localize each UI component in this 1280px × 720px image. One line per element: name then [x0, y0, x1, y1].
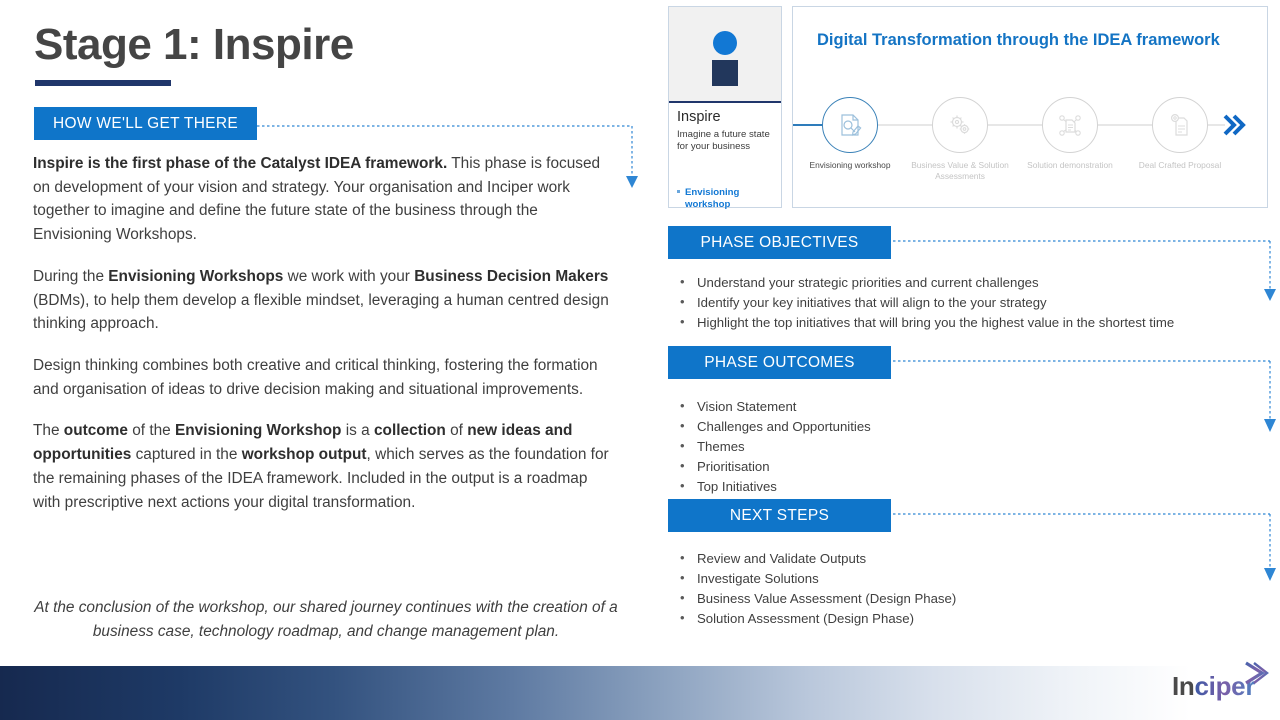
body-copy: Inspire is the first phase of the Cataly…: [33, 152, 619, 532]
next-steps-label: NEXT STEPS: [730, 507, 829, 525]
phase-outcomes-list: Vision Statement Challenges and Opportun…: [670, 397, 1270, 497]
phase-objectives-tab[interactable]: PHASE OBJECTIVES: [668, 226, 891, 259]
network-document-icon: [1056, 111, 1084, 139]
person-body-icon: [712, 60, 738, 86]
step-circle-1: [822, 97, 878, 153]
page-title: Stage 1: Inspire: [34, 22, 354, 68]
phase-objectives-list: Understand your strategic priorities and…: [670, 273, 1270, 333]
idea-step-business-value[interactable]: Business Value & Solution Assessments: [905, 97, 1015, 182]
next-steps-tab[interactable]: NEXT STEPS: [668, 499, 891, 532]
idea-step-label-1: Envisioning workshop: [795, 160, 905, 171]
idea-step-deal-crafted-proposal[interactable]: Deal Crafted Proposal: [1125, 97, 1235, 171]
idea-step-label-3: Solution demonstration: [1015, 160, 1125, 171]
document-pen-icon: [836, 111, 864, 139]
how-well-get-there-label: HOW WE'LL GET THERE: [53, 115, 238, 133]
footer-gradient-bar: [0, 666, 1280, 720]
list-item: Identify your key initiatives that will …: [670, 293, 1270, 313]
inspire-card-subtitle: Imagine a future state for your business: [677, 129, 777, 153]
person-head-icon: [713, 31, 737, 55]
list-item: Understand your strategic priorities and…: [670, 273, 1270, 293]
phase-objectives-label: PHASE OBJECTIVES: [700, 234, 858, 252]
list-item: Top Initiatives: [670, 477, 1270, 497]
idea-framework-diagram: Digital Transformation through the IDEA …: [792, 6, 1268, 208]
idea-step-envisioning-workshop[interactable]: Envisioning workshop: [795, 97, 905, 171]
step-circle-2: [932, 97, 988, 153]
paragraph-2: During the Envisioning Workshops we work…: [33, 265, 619, 336]
list-item: Highlight the top initiatives that will …: [670, 313, 1270, 333]
list-item: Business Value Assessment (Design Phase): [670, 589, 1270, 609]
inspire-card-icon-area: [669, 7, 781, 103]
list-item: Vision Statement: [670, 397, 1270, 417]
list-item: Solution Assessment (Design Phase): [670, 609, 1270, 629]
paragraph-4: The outcome of the Envisioning Workshop …: [33, 419, 619, 514]
inspire-card-title: Inspire: [677, 109, 721, 125]
bullet-dot-icon: [677, 190, 680, 193]
left-content-column: Stage 1: Inspire HOW WE'LL GET THERE Ins…: [0, 0, 660, 660]
logo-text-prefix: In: [1172, 671, 1195, 701]
how-well-get-there-tab[interactable]: HOW WE'LL GET THERE: [34, 107, 257, 140]
closing-italic-note: At the conclusion of the workshop, our s…: [33, 596, 619, 643]
list-item: Investigate Solutions: [670, 569, 1270, 589]
phase-outcomes-label: PHASE OUTCOMES: [704, 354, 855, 372]
double-chevron-right-icon: [1223, 113, 1251, 137]
gears-icon: [946, 111, 974, 139]
title-underline-rule: [35, 80, 171, 86]
list-item: Review and Validate Outputs: [670, 549, 1270, 569]
step-circle-4: [1152, 97, 1208, 153]
list-item: Themes: [670, 437, 1270, 457]
phase-outcomes-tab[interactable]: PHASE OUTCOMES: [668, 346, 891, 379]
paragraph-3: Design thinking combines both creative a…: [33, 354, 619, 401]
inciper-chevron-mark-icon: [1240, 660, 1274, 694]
paragraph-1: Inspire is the first phase of the Cataly…: [33, 152, 619, 247]
inspire-phase-card[interactable]: Inspire Imagine a future state for your …: [668, 6, 782, 208]
idea-step-label-4: Deal Crafted Proposal: [1125, 160, 1235, 171]
inspire-card-tag: Envisioning workshop: [685, 187, 777, 210]
document-gear-icon: [1166, 111, 1194, 139]
right-content-column: Inspire Imagine a future state for your …: [660, 0, 1280, 660]
step-circle-3: [1042, 97, 1098, 153]
idea-step-label-2: Business Value & Solution Assessments: [905, 160, 1015, 182]
idea-step-solution-demonstration[interactable]: Solution demonstration: [1015, 97, 1125, 171]
list-item: Prioritisation: [670, 457, 1270, 477]
next-steps-list: Review and Validate Outputs Investigate …: [670, 549, 1270, 629]
paragraph-1-lead: Inspire is the first phase of the Cataly…: [33, 155, 447, 172]
list-item: Challenges and Opportunities: [670, 417, 1270, 437]
